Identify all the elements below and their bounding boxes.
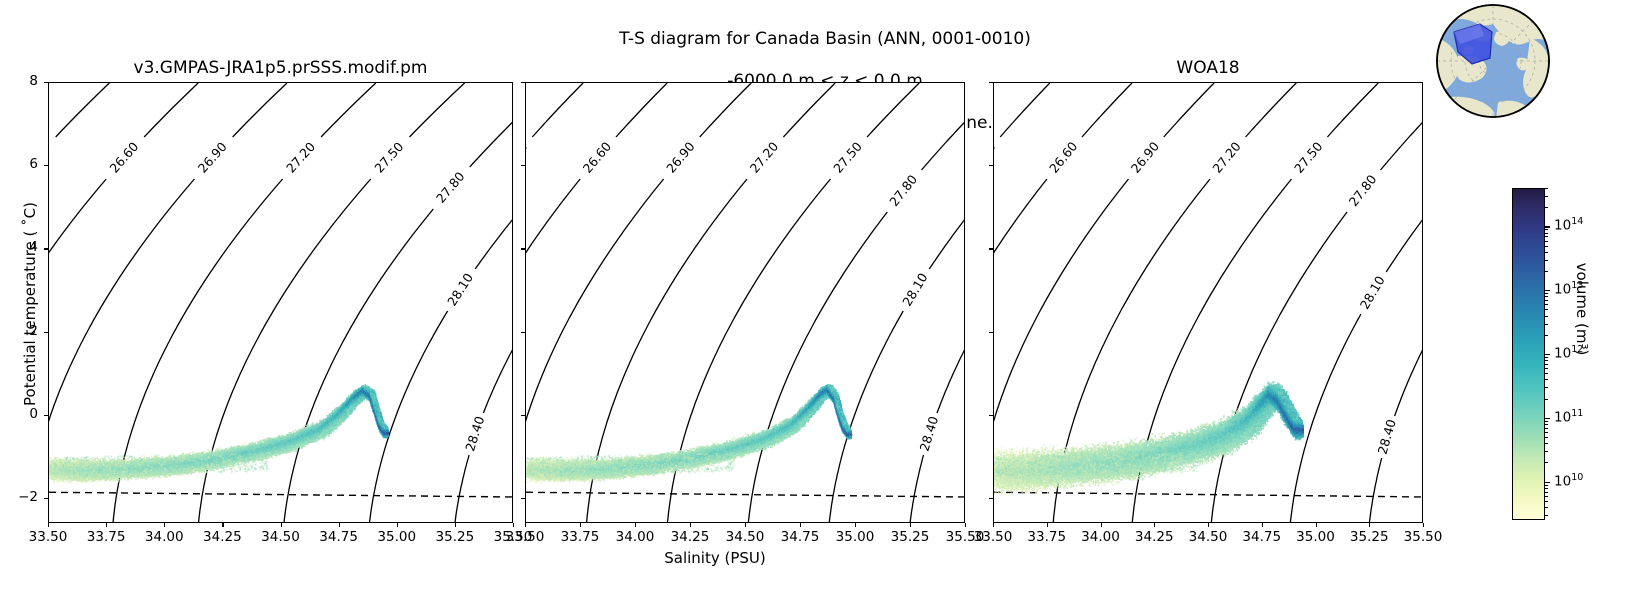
- axes-panel-woa18[interactable]: 26.3026.6026.9027.2027.5027.8028.1028.40: [993, 82, 1423, 523]
- colorbar-minor-tick: [1545, 387, 1548, 388]
- colorbar-tick-mark: [1545, 354, 1550, 355]
- y-tick-mark: [989, 332, 993, 333]
- colorbar-minor-tick: [1545, 360, 1548, 361]
- x-axis-label: Salinity (PSU): [0, 549, 1430, 567]
- x-tick-label: 35.00: [1286, 529, 1346, 545]
- ts-volume-histogram: [526, 384, 852, 483]
- density-contour-label: 26.30: [994, 139, 999, 176]
- density-contour-label: 28.10: [444, 270, 476, 308]
- x-tick-mark: [164, 523, 165, 527]
- x-tick-label: 33.50: [963, 529, 1023, 545]
- y-tick-label: 2: [0, 323, 38, 339]
- y-tick-mark: [521, 498, 525, 499]
- y-tick-mark: [989, 248, 993, 249]
- colorbar-minor-tick: [1545, 451, 1548, 452]
- y-tick-mark: [44, 82, 48, 83]
- x-tick-mark: [106, 523, 107, 527]
- colorbar-minor-tick: [1545, 271, 1548, 272]
- x-tick-mark: [1369, 523, 1370, 527]
- density-contour-label: 26.90: [195, 139, 230, 176]
- panel-plot-area: 26.3026.6026.9027.2027.5027.8028.1028.40: [526, 83, 965, 523]
- colorbar-tick-label: 1011: [1554, 408, 1583, 426]
- y-tick-mark: [44, 415, 48, 416]
- colorbar-minor-tick: [1545, 357, 1548, 358]
- colorbar-minor-tick: [1545, 246, 1548, 247]
- x-tick-label: 34.50: [1178, 529, 1238, 545]
- colorbar[interactable]: [1512, 188, 1545, 520]
- y-tick-mark: [44, 248, 48, 249]
- colorbar-minor-tick: [1545, 507, 1548, 508]
- x-tick-label: 34.75: [1232, 529, 1292, 545]
- colorbar-minor-tick: [1545, 379, 1548, 380]
- density-contour-label: 28.10: [899, 270, 930, 308]
- panel-title-modif: v3.GMPAS-JRA1p5.prSSS.modif.pm: [48, 58, 513, 78]
- x-tick-label: 33.50: [495, 529, 555, 545]
- y-tick-mark: [989, 415, 993, 416]
- colorbar-tick-mark: [1545, 482, 1550, 483]
- x-tick-label: 33.75: [76, 529, 136, 545]
- colorbar-minor-tick: [1545, 309, 1548, 310]
- y-tick-mark: [521, 165, 525, 166]
- colorbar-minor-tick: [1545, 462, 1548, 463]
- x-tick-mark: [222, 523, 223, 527]
- ts-volume-histogram: [994, 381, 1304, 497]
- x-tick-mark: [745, 523, 746, 527]
- y-tick-label: 4: [0, 239, 38, 255]
- y-tick-label: 6: [0, 156, 38, 172]
- figure-canvas: T-S diagram for Canada Basin (ANN, 0001-…: [0, 0, 1650, 600]
- x-tick-mark: [455, 523, 456, 527]
- density-contour-label: 27.20: [1209, 139, 1243, 176]
- colorbar-minor-tick: [1545, 293, 1548, 294]
- density-contour-label: 28.10: [1357, 273, 1388, 312]
- x-tick-label: 34.25: [660, 529, 720, 545]
- x-tick-label: 33.75: [1017, 529, 1077, 545]
- density-contour-label: 28.40: [1375, 417, 1399, 456]
- panel-plot-area: 26.3026.6026.9027.2027.5027.8028.1028.40: [994, 83, 1423, 523]
- colorbar-minor-tick: [1545, 488, 1548, 489]
- colorbar-minor-tick: [1545, 236, 1548, 237]
- y-tick-label: 0: [0, 406, 38, 422]
- colorbar-minor-tick: [1545, 260, 1548, 261]
- colorbar-minor-tick: [1545, 492, 1548, 493]
- colorbar-minor-tick: [1545, 421, 1548, 422]
- colorbar-minor-tick: [1545, 304, 1548, 305]
- x-tick-mark: [513, 523, 514, 527]
- x-tick-label: 33.50: [18, 529, 78, 545]
- y-tick-mark: [989, 498, 993, 499]
- x-tick-label: 34.75: [309, 529, 369, 545]
- arctic-globe-inset-icon: [1434, 2, 1552, 120]
- colorbar-minor-tick: [1545, 324, 1548, 325]
- colorbar-minor-tick: [1545, 300, 1548, 301]
- x-tick-label: 35.00: [825, 529, 885, 545]
- colorbar-minor-tick: [1545, 496, 1548, 497]
- x-tick-mark: [965, 523, 966, 527]
- x-tick-label: 34.25: [192, 529, 252, 545]
- colorbar-minor-tick: [1545, 443, 1548, 444]
- colorbar-tick-label: 1010: [1554, 472, 1583, 490]
- x-tick-mark: [1423, 523, 1424, 527]
- x-tick-mark: [1316, 523, 1317, 527]
- x-tick-label: 34.25: [1124, 529, 1184, 545]
- x-tick-label: 34.75: [770, 529, 830, 545]
- y-tick-label: −2: [0, 489, 38, 505]
- x-tick-label: 35.50: [1393, 529, 1453, 545]
- density-contour-label: 26.30: [49, 139, 53, 176]
- colorbar-minor-tick: [1545, 368, 1548, 369]
- colorbar-tick-label: 1013: [1554, 280, 1583, 298]
- colorbar-tick-label: 1012: [1554, 344, 1583, 362]
- x-tick-label: 33.75: [550, 529, 610, 545]
- x-tick-mark: [48, 523, 49, 527]
- x-tick-mark: [281, 523, 282, 527]
- colorbar-minor-tick: [1545, 241, 1548, 242]
- colorbar-minor-tick: [1545, 252, 1548, 253]
- density-contour-label: 27.50: [1291, 139, 1325, 176]
- x-tick-mark: [525, 523, 526, 527]
- density-contour-label: 26.90: [663, 139, 698, 176]
- y-tick-mark: [989, 165, 993, 166]
- colorbar-minor-tick: [1545, 373, 1548, 374]
- density-contour-label: 26.60: [106, 139, 141, 176]
- colorbar-minor-tick: [1545, 229, 1548, 230]
- suptitle-line-1: T-S diagram for Canada Basin (ANN, 0001-…: [0, 29, 1650, 50]
- x-tick-label: 35.25: [1339, 529, 1399, 545]
- y-tick-mark: [44, 332, 48, 333]
- y-tick-label: 8: [0, 73, 38, 89]
- x-tick-mark: [635, 523, 636, 527]
- colorbar-minor-tick: [1545, 207, 1548, 208]
- x-tick-mark: [855, 523, 856, 527]
- colorbar-minor-tick: [1545, 399, 1548, 400]
- axes-panel-control[interactable]: 26.3026.6026.9027.2027.5027.8028.1028.40: [525, 82, 965, 523]
- density-contour-label: 26.60: [580, 139, 614, 176]
- density-contour-label: 26.90: [1128, 139, 1162, 176]
- density-contour-label: 27.80: [886, 172, 920, 209]
- x-tick-mark: [1262, 523, 1263, 527]
- colorbar-minor-tick: [1545, 188, 1548, 189]
- y-tick-mark: [521, 248, 525, 249]
- x-tick-mark: [1101, 523, 1102, 527]
- x-tick-mark: [1047, 523, 1048, 527]
- ts-volume-histogram: [49, 384, 389, 483]
- colorbar-minor-tick: [1545, 296, 1548, 297]
- colorbar-minor-tick: [1545, 437, 1548, 438]
- panel-plot-area: 26.3026.6026.9027.2027.5027.8028.1028.40: [49, 83, 513, 523]
- x-tick-mark: [580, 523, 581, 527]
- density-contour-label: 27.20: [747, 139, 782, 176]
- density-contour-label: 27.20: [283, 139, 318, 176]
- density-contour-label: 26.60: [1046, 139, 1080, 176]
- x-tick-mark: [800, 523, 801, 527]
- colorbar-minor-tick: [1545, 485, 1548, 486]
- panel-title-woa18: WOA18: [993, 58, 1423, 78]
- y-tick-mark: [521, 415, 525, 416]
- y-tick-mark: [989, 82, 993, 83]
- density-contour-label: 28.40: [462, 414, 487, 453]
- x-tick-label: 34.50: [251, 529, 311, 545]
- colorbar-tick-mark: [1545, 226, 1550, 227]
- colorbar-minor-tick: [1545, 428, 1548, 429]
- y-tick-mark: [44, 165, 48, 166]
- colorbar-tick-mark: [1545, 418, 1550, 419]
- colorbar-minor-tick: [1545, 515, 1548, 516]
- y-tick-mark: [44, 498, 48, 499]
- density-contour-label: 27.80: [1346, 172, 1380, 209]
- colorbar-minor-tick: [1545, 196, 1548, 197]
- x-tick-mark: [690, 523, 691, 527]
- density-contour-label: 28.40: [916, 414, 941, 453]
- y-tick-mark: [521, 332, 525, 333]
- x-tick-label: 35.00: [367, 529, 427, 545]
- colorbar-tick-mark: [1545, 290, 1550, 291]
- density-contour-label: 27.50: [371, 139, 406, 176]
- x-tick-mark: [993, 523, 994, 527]
- x-tick-mark: [397, 523, 398, 527]
- colorbar-minor-tick: [1545, 335, 1548, 336]
- x-tick-label: 34.00: [1071, 529, 1131, 545]
- axes-panel-modif[interactable]: 26.3026.6026.9027.2027.5027.8028.1028.40: [48, 82, 513, 523]
- x-tick-label: 34.00: [134, 529, 194, 545]
- y-tick-mark: [521, 82, 525, 83]
- colorbar-minor-tick: [1545, 432, 1548, 433]
- colorbar-minor-tick: [1545, 233, 1548, 234]
- x-tick-mark: [339, 523, 340, 527]
- colorbar-minor-tick: [1545, 424, 1548, 425]
- density-contour-label: 27.50: [830, 139, 865, 176]
- colorbar-minor-tick: [1545, 316, 1548, 317]
- colorbar-minor-tick: [1545, 364, 1548, 365]
- density-contour-label: 26.30: [526, 139, 531, 176]
- x-tick-label: 35.25: [425, 529, 485, 545]
- x-tick-mark: [1208, 523, 1209, 527]
- x-tick-label: 35.25: [880, 529, 940, 545]
- density-contour-label: 27.80: [433, 169, 468, 206]
- colorbar-minor-tick: [1545, 501, 1548, 502]
- x-tick-label: 34.00: [605, 529, 665, 545]
- x-tick-mark: [1154, 523, 1155, 527]
- colorbar-tick-label: 1014: [1554, 216, 1583, 234]
- x-tick-mark: [910, 523, 911, 527]
- x-tick-label: 34.50: [715, 529, 775, 545]
